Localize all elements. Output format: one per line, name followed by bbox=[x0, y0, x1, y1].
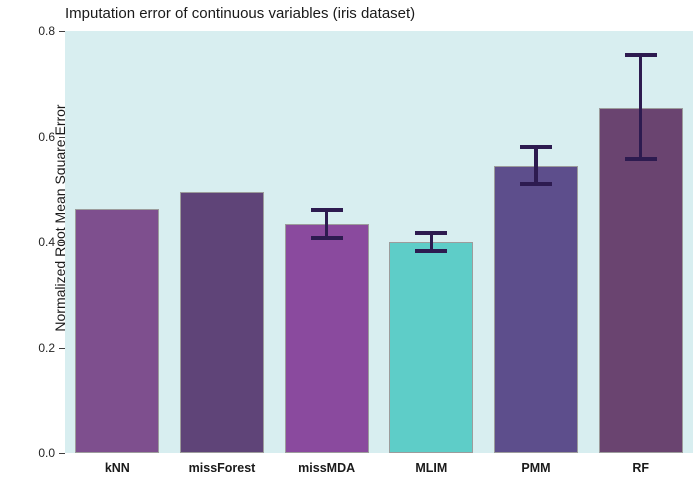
bar-missforest bbox=[180, 192, 264, 453]
error-bar-cap-top bbox=[415, 231, 447, 235]
plot-area: 0.00.20.40.60.8 bbox=[65, 31, 693, 453]
bar-knn bbox=[75, 209, 159, 453]
bar-mlim bbox=[389, 242, 473, 453]
y-tick-mark bbox=[59, 453, 65, 454]
y-tick-mark bbox=[59, 348, 65, 349]
error-bar-line bbox=[534, 147, 538, 184]
error-bar-cap-top bbox=[625, 53, 657, 57]
y-tick-label: 0.8 bbox=[25, 24, 55, 38]
y-tick-mark bbox=[59, 242, 65, 243]
bar-pmm bbox=[494, 166, 578, 453]
chart-figure: Imputation error of continuous variables… bbox=[0, 0, 700, 500]
error-bar-cap-bottom bbox=[625, 157, 657, 161]
y-tick-mark bbox=[59, 31, 65, 32]
x-tick-label-missmda: missMDA bbox=[298, 461, 355, 475]
error-bar-cap-bottom bbox=[520, 182, 552, 186]
y-tick-label: 0.4 bbox=[25, 235, 55, 249]
x-tick-label-rf: RF bbox=[632, 461, 649, 475]
error-bar-cap-top bbox=[311, 208, 343, 212]
error-bar-cap-bottom bbox=[415, 249, 447, 253]
y-tick-label: 0.0 bbox=[25, 446, 55, 460]
y-tick-label: 0.6 bbox=[25, 130, 55, 144]
x-tick-label-missforest: missForest bbox=[189, 461, 256, 475]
error-bar-line bbox=[639, 55, 643, 159]
chart-title: Imputation error of continuous variables… bbox=[65, 5, 415, 22]
bar-missmda bbox=[285, 224, 369, 453]
error-bar-cap-bottom bbox=[311, 236, 343, 240]
y-tick-mark bbox=[59, 137, 65, 138]
x-tick-label-mlim: MLIM bbox=[415, 461, 447, 475]
error-bar-cap-top bbox=[520, 145, 552, 149]
x-tick-label-pmm: PMM bbox=[521, 461, 550, 475]
y-tick-label: 0.2 bbox=[25, 341, 55, 355]
error-bar-line bbox=[325, 210, 329, 238]
x-tick-label-knn: kNN bbox=[105, 461, 130, 475]
